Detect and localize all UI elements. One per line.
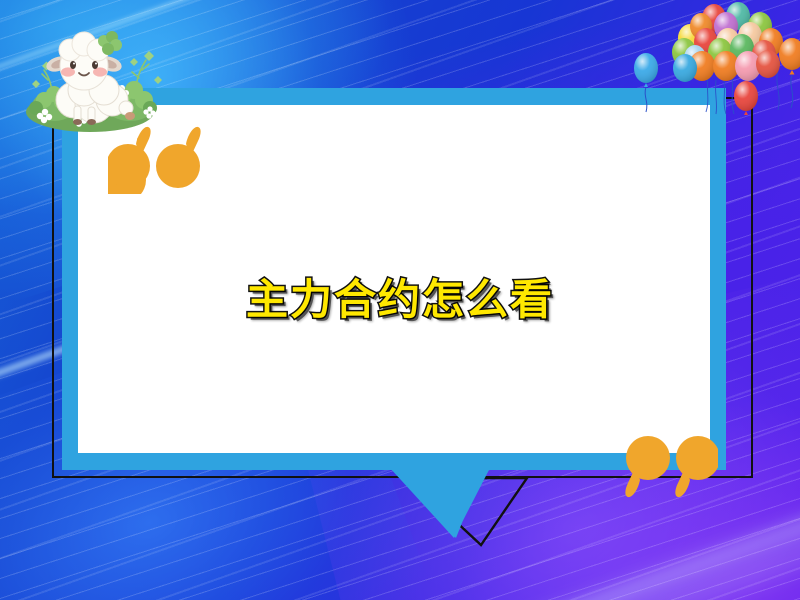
balloon-cluster-illustration	[628, 0, 800, 124]
slide-canvas: 主力合约怎么看	[0, 0, 800, 600]
quote-open-icon	[108, 126, 206, 194]
balloon-left-floating	[634, 53, 658, 112]
sheep-illustration	[18, 8, 163, 136]
speech-bubble-tail	[390, 468, 500, 540]
balloon-right-floating	[779, 38, 800, 108]
quote-close-icon	[620, 430, 718, 498]
balloon-red-lower	[734, 81, 758, 115]
page-title: 主力合约怎么看	[0, 266, 800, 327]
